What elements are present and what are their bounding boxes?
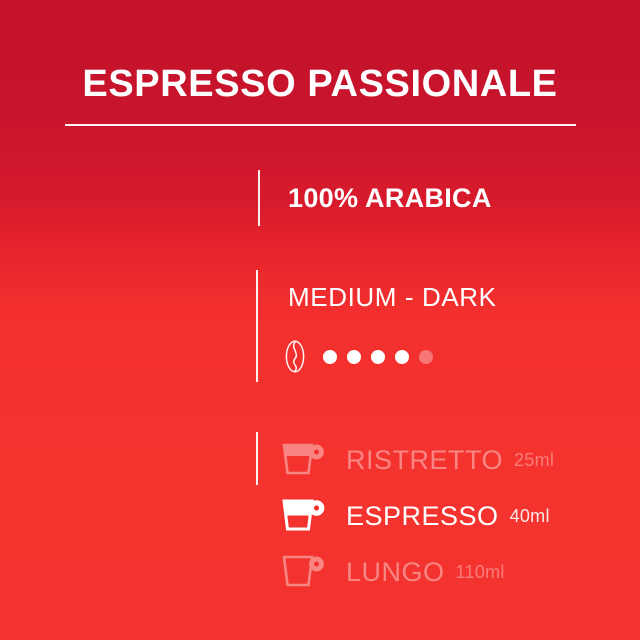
cup-name: LUNGO: [346, 557, 445, 588]
product-info-card: ESPRESSO PASSIONALE BLEND 100% ARABICA R…: [0, 0, 640, 640]
blend-value: 100% ARABICA: [288, 183, 492, 214]
intensity-dot: [347, 350, 361, 364]
blend-divider: [258, 170, 260, 226]
cup-volume: 25ml: [514, 450, 554, 471]
intensity-dots: [323, 350, 433, 364]
coffee-bean-icon: [285, 340, 305, 373]
coffee-cup-icon: [280, 495, 326, 538]
list-item: ESPRESSO 40ml: [280, 488, 554, 544]
roasting-divider: [256, 270, 258, 382]
page-title: ESPRESSO PASSIONALE: [0, 62, 640, 106]
roast-intensity-meter: [285, 340, 433, 373]
list-item: LUNGO 110ml: [280, 544, 554, 600]
title-divider: [65, 124, 576, 126]
roasting-value: MEDIUM - DARK: [288, 282, 497, 313]
list-item: RISTRETTO 25ml: [280, 432, 554, 488]
cup-name: ESPRESSO: [346, 501, 499, 532]
cup-name: RISTRETTO: [346, 445, 503, 476]
intensity-dot: [395, 350, 409, 364]
cup-volume: 110ml: [456, 562, 505, 583]
cup-volume: 40ml: [510, 506, 550, 527]
intensity-dot: [371, 350, 385, 364]
ideal-for-divider: [256, 432, 258, 485]
intensity-dot: [323, 350, 337, 364]
coffee-cup-icon: [280, 439, 326, 482]
cup-list: RISTRETTO 25ml ESPRESSO 40ml: [280, 432, 554, 600]
intensity-dot-empty: [419, 350, 433, 364]
coffee-cup-icon: [280, 551, 326, 594]
